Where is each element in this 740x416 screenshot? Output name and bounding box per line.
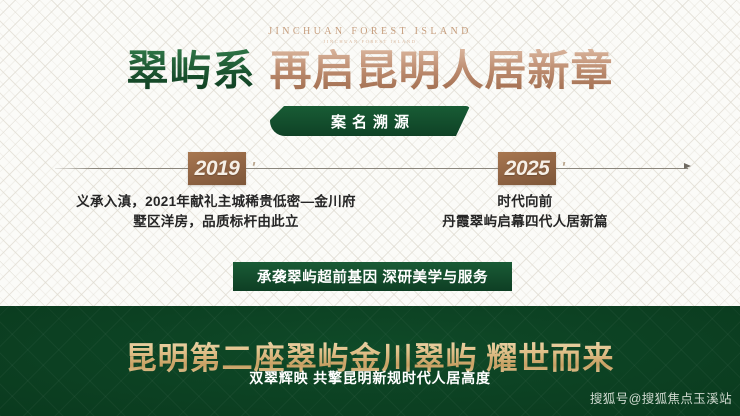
- section-badge-label: 案名溯源: [325, 111, 415, 132]
- timeline-caption-line2: 丹霞翠屿启幕四代人居新篇: [400, 212, 650, 232]
- page-title: 翠屿系再启昆明人居新章: [0, 51, 740, 93]
- timeline-year-label: 2019: [195, 157, 240, 181]
- timeline-year-badge-2019: 2019 ': [188, 152, 246, 185]
- timeline-caption-2019: 义承入滇，2021年献礼主城稀贵低密—金川府 墅区洋房，品质标杆由此立: [46, 192, 386, 232]
- timeline-caption-2025: 时代向前 丹霞翠屿启幕四代人居新篇: [400, 192, 650, 232]
- timeline-year-label: 2025: [505, 157, 550, 181]
- timeline-caption-line1: 时代向前: [400, 192, 650, 212]
- slogan-strip: 承袭翠屿超前基因 深研美学与服务: [233, 262, 512, 291]
- poster-canvas: JINCHUAN FOREST ISLAND JINCHUAN FOREST I…: [0, 0, 740, 416]
- brand-logo-main-text: JINCHUAN FOREST ISLAND: [0, 26, 740, 37]
- timeline-year-badge-2025: 2025 ': [498, 152, 556, 185]
- page-title-green-part: 翠屿系: [126, 49, 255, 95]
- timeline-caption-line2: 墅区洋房，品质标杆由此立: [46, 212, 386, 232]
- timeline-caption-line1: 义承入滇，2021年献礼主城稀贵低密—金川府: [46, 192, 386, 212]
- page-title-brown-part: 再启昆明人居新章: [270, 49, 614, 95]
- slogan-strip-label: 承袭翠屿超前基因 深研美学与服务: [257, 266, 488, 287]
- brand-logo-sub-text: JINCHUAN FOREST ISLAND: [0, 39, 740, 44]
- arrow-right-icon: [684, 163, 691, 169]
- timeline-year-tick: ': [251, 159, 255, 176]
- section-badge: 案名溯源: [270, 106, 470, 136]
- timeline-year-tick: ': [561, 159, 565, 176]
- brand-logo: JINCHUAN FOREST ISLAND JINCHUAN FOREST I…: [0, 26, 740, 44]
- timeline-axis: [55, 168, 688, 169]
- bottom-subheadline: 双翠辉映 共擎昆明新规时代人居高度: [0, 368, 740, 388]
- watermark: 搜狐号@搜狐焦点玉溪站: [590, 388, 732, 407]
